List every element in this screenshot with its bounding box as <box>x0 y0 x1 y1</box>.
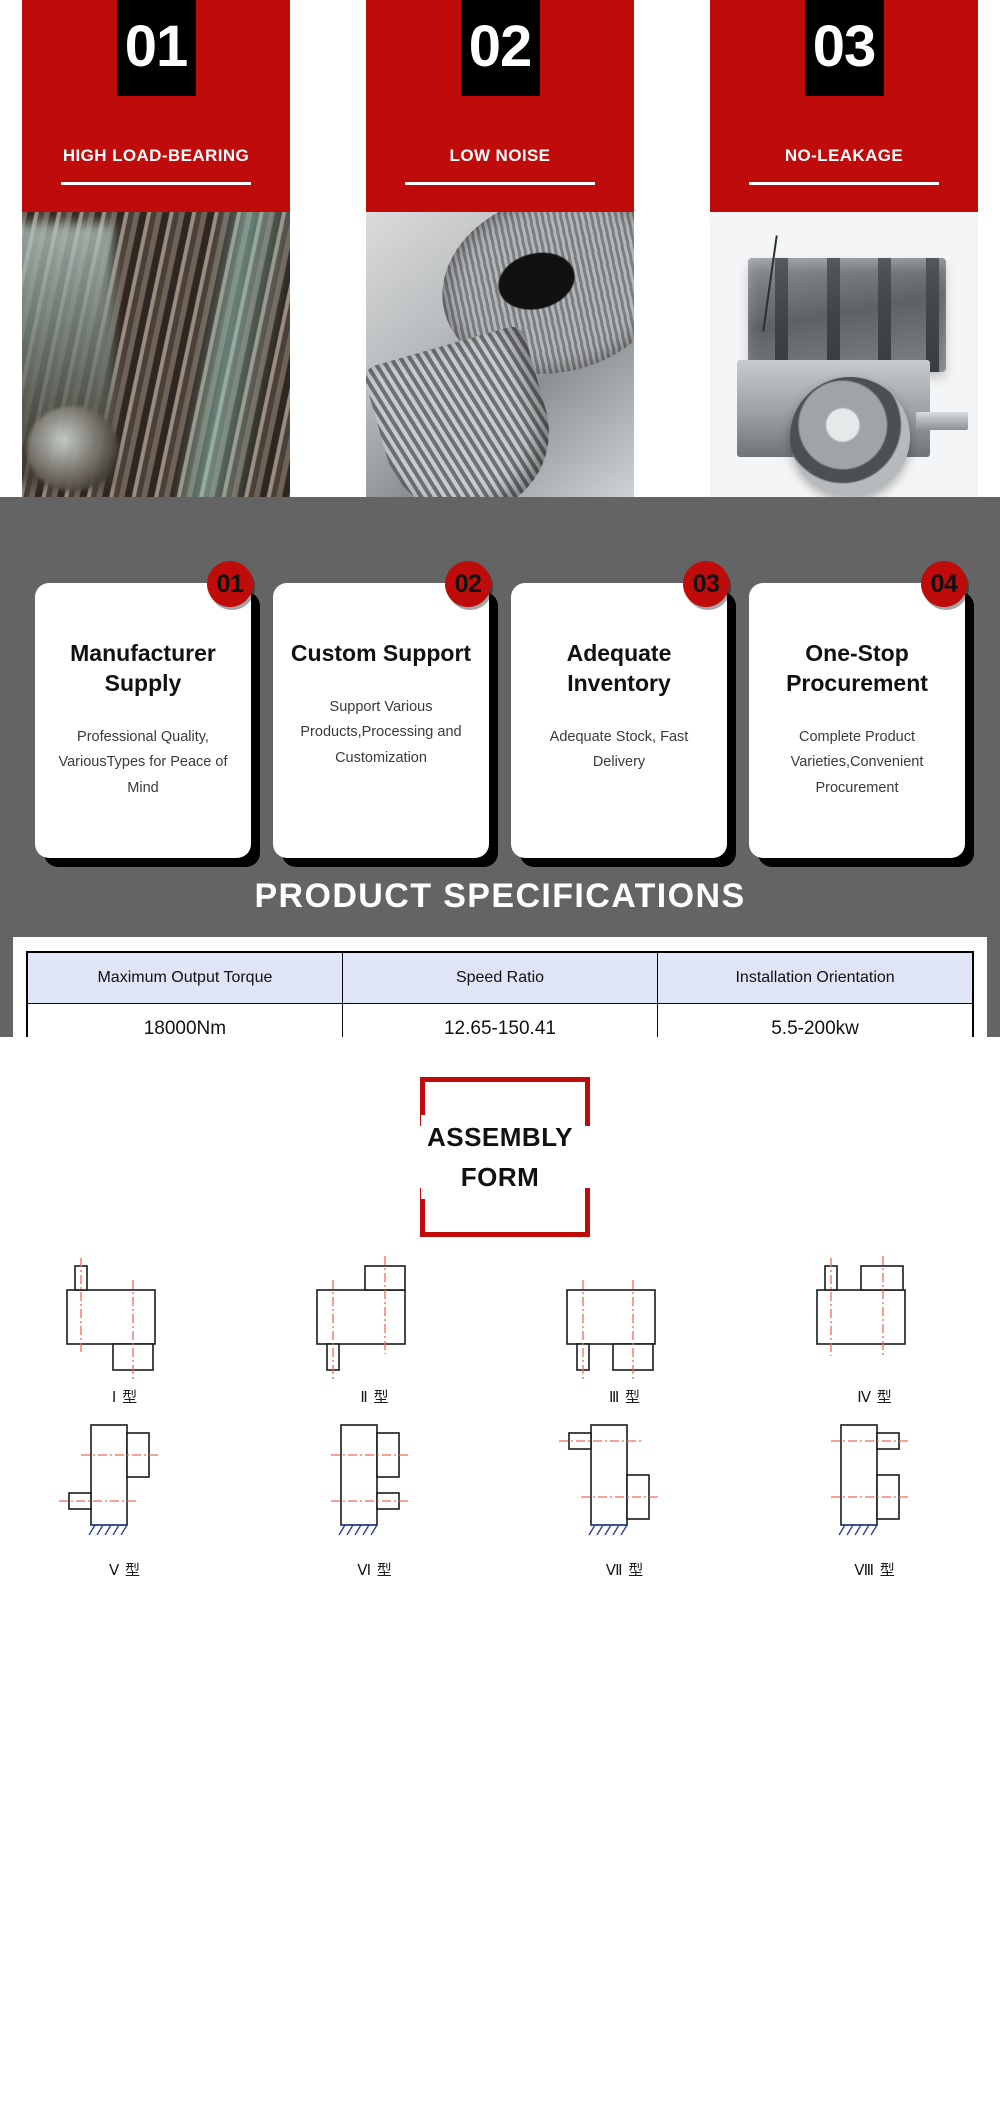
assembly-type-4-icon <box>795 1252 955 1382</box>
assembly-type-4: Ⅳ 型 <box>768 1252 983 1407</box>
table-header-cell: Maximum Output Torque <box>27 952 342 1004</box>
assembly-type-5: Ⅴ 型 <box>18 1415 233 1580</box>
assembly-type-label: Ⅲ 型 <box>609 1386 641 1407</box>
assembly-type-8-icon <box>795 1415 955 1555</box>
assembly-title-line1: ASSEMBLY <box>427 1117 573 1157</box>
card-description: Complete Product Varieties,Convenient Pr… <box>765 725 949 801</box>
assembly-type-3: Ⅲ 型 <box>518 1252 733 1407</box>
advantages-section: 01 Manufacturer Supply Professional Qual… <box>0 497 1000 1037</box>
table-header-cell: Installation Orientation <box>658 952 973 1004</box>
feature-banner: 02 LOW NOISE <box>366 0 634 497</box>
card-badge: 04 <box>921 561 967 607</box>
feature-divider <box>749 182 939 185</box>
feature-photo <box>366 212 634 497</box>
assembly-heading-block: ASSEMBLY FORM <box>420 1077 580 1237</box>
feature-banner: 03 NO-LEAKAGE <box>710 0 978 497</box>
assembly-type-label: Ⅶ 型 <box>606 1559 645 1580</box>
advantage-card-row: 01 Manufacturer Supply Professional Qual… <box>0 583 1000 858</box>
card-description: Professional Quality, VariousTypes for P… <box>51 725 235 801</box>
gearbox-rib <box>878 258 891 372</box>
advantage-card[interactable]: 01 Manufacturer Supply Professional Qual… <box>35 583 251 858</box>
gearbox-output-flange <box>790 377 910 497</box>
feature-divider <box>405 182 595 185</box>
bearing-rings-photo <box>366 212 634 497</box>
card-badge: 03 <box>683 561 729 607</box>
assembly-type-6: Ⅵ 型 <box>268 1415 483 1580</box>
feature-photo <box>710 212 978 497</box>
helical-gear-stack-photo <box>22 212 290 497</box>
gearbox-shaft <box>916 412 968 430</box>
feature-number: 01 <box>125 18 188 76</box>
card-badge: 01 <box>207 561 253 607</box>
table-header-cell: Speed Ratio <box>342 952 657 1004</box>
assembly-type-7-icon <box>545 1415 705 1555</box>
card-title: Adequate Inventory <box>527 639 711 699</box>
assembly-type-7: Ⅶ 型 <box>518 1415 733 1580</box>
card-title: Custom Support <box>289 639 473 669</box>
card-description: Adequate Stock, Fast Delivery <box>527 725 711 776</box>
feature-banner: 01 HIGH LOAD-BEARING <box>22 0 290 497</box>
advantage-card[interactable]: 04 One-Stop Procurement Complete Product… <box>749 583 965 858</box>
assembly-type-2-icon <box>295 1252 455 1382</box>
assembly-type-label: Ⅴ 型 <box>109 1559 141 1580</box>
feature-banner-header: 01 HIGH LOAD-BEARING <box>22 0 290 212</box>
card-badge: 02 <box>445 561 491 607</box>
gearbox-housing-photo <box>710 212 978 497</box>
assembly-type-label: Ⅰ 型 <box>112 1386 138 1407</box>
feature-title: HIGH LOAD-BEARING <box>63 146 249 166</box>
assembly-type-2: Ⅱ 型 <box>268 1252 483 1407</box>
assembly-type-1: Ⅰ 型 <box>18 1252 233 1407</box>
feature-photo <box>22 212 290 497</box>
specifications-heading: PRODUCT SPECIFICATIONS <box>0 877 1000 916</box>
gearbox-body <box>748 258 946 372</box>
assembly-type-label: Ⅳ 型 <box>857 1386 893 1407</box>
assembly-diagram-grid: Ⅰ 型 Ⅱ 型 <box>0 1252 1000 1580</box>
card-description: Support Various Products,Processing and … <box>289 695 473 771</box>
feature-banner-header: 03 NO-LEAKAGE <box>710 0 978 212</box>
feature-title: LOW NOISE <box>450 146 551 166</box>
feature-number-box: 03 <box>805 0 884 96</box>
feature-number: 03 <box>813 18 876 76</box>
assembly-title: ASSEMBLY FORM <box>421 1115 579 1200</box>
gearbox-rib <box>775 258 788 372</box>
product-detail-page: 01 HIGH LOAD-BEARING 02 LOW NOISE <box>0 0 1000 2101</box>
assembly-type-6-icon <box>295 1415 455 1555</box>
assembly-type-5-icon <box>45 1415 205 1555</box>
feature-banner-header: 02 LOW NOISE <box>366 0 634 212</box>
gearbox-rib <box>926 258 939 372</box>
card-title: One-Stop Procurement <box>765 639 949 699</box>
feature-number: 02 <box>469 18 532 76</box>
feature-banner-row: 01 HIGH LOAD-BEARING 02 LOW NOISE <box>0 0 1000 497</box>
feature-number-box: 01 <box>117 0 196 96</box>
assembly-diagram-row: Ⅴ 型 <box>0 1415 1000 1580</box>
table-row: Maximum Output Torque Speed Ratio Instal… <box>27 952 973 1004</box>
assembly-type-label: Ⅵ 型 <box>357 1559 393 1580</box>
assembly-section: ASSEMBLY FORM <box>0 1037 1000 2101</box>
feature-number-box: 02 <box>461 0 540 96</box>
assembly-type-8: Ⅷ 型 <box>768 1415 983 1580</box>
card-title: Manufacturer Supply <box>51 639 235 699</box>
advantage-card[interactable]: 02 Custom Support Support Various Produc… <box>273 583 489 858</box>
feature-title: NO-LEAKAGE <box>785 146 903 166</box>
assembly-type-3-icon <box>545 1252 705 1382</box>
feature-divider <box>61 182 251 185</box>
gearbox-rib <box>827 258 840 372</box>
advantage-card[interactable]: 03 Adequate Inventory Adequate Stock, Fa… <box>511 583 727 858</box>
assembly-diagram-row: Ⅰ 型 Ⅱ 型 <box>0 1252 1000 1407</box>
assembly-type-label: Ⅷ 型 <box>854 1559 896 1580</box>
assembly-type-1-icon <box>45 1252 205 1382</box>
assembly-type-label: Ⅱ 型 <box>360 1386 389 1407</box>
assembly-title-line2: FORM <box>427 1157 573 1197</box>
